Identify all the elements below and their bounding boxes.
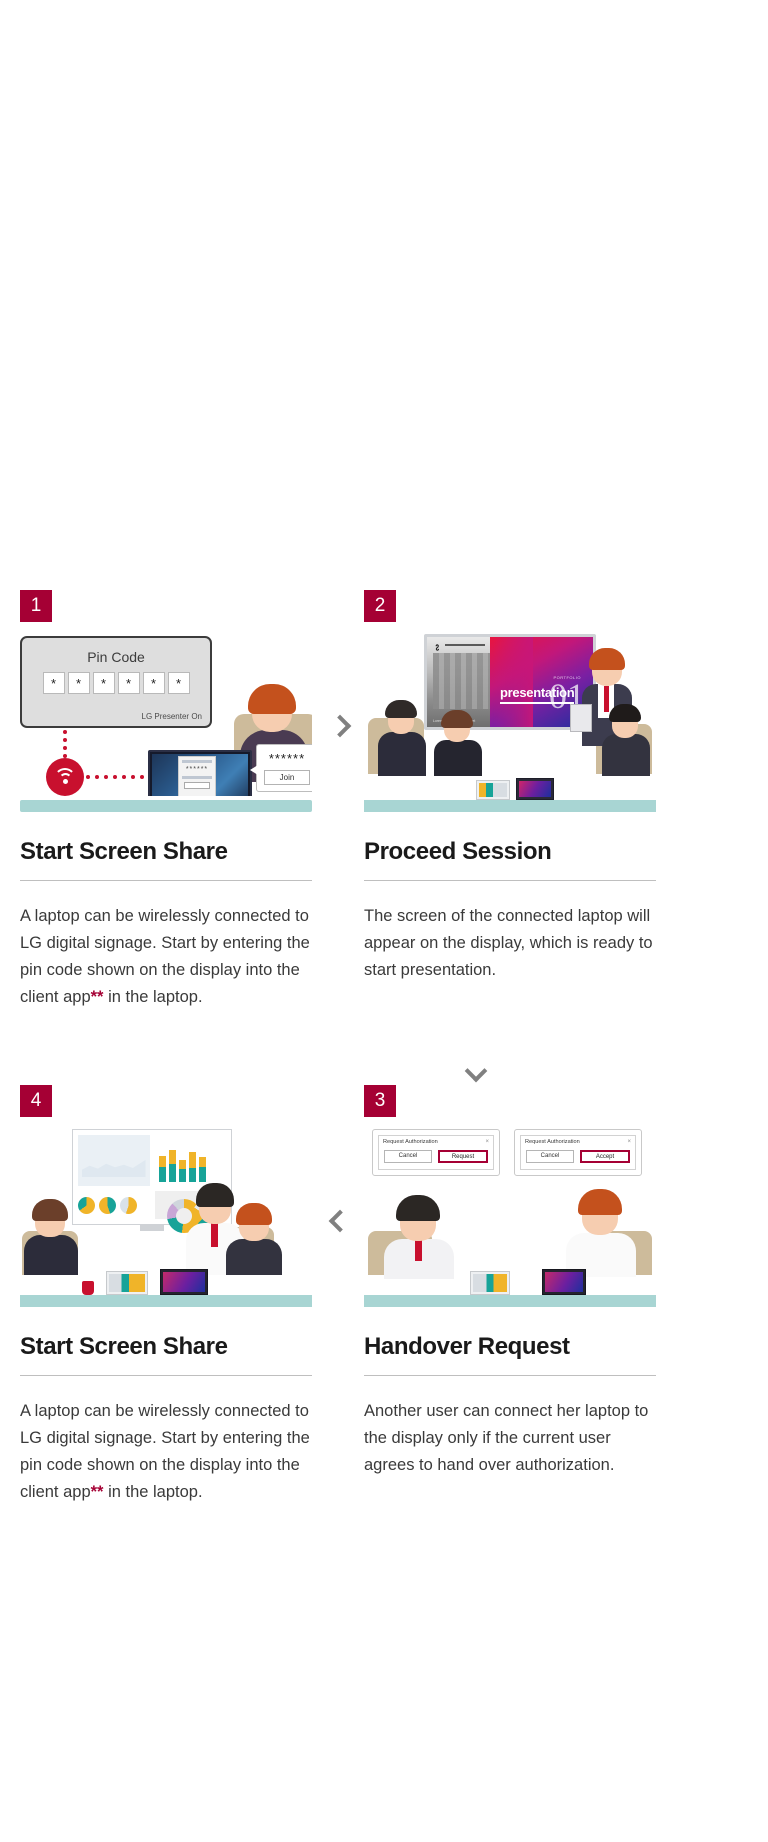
request-authorization-dialog-right[interactable]: Request Authorization × Cancel Accept [514, 1129, 642, 1176]
step-body-1: A laptop can be wirelessly connected to … [20, 903, 312, 1011]
dialog-titlebar: Request Authorization × [521, 1136, 635, 1147]
desk-front [20, 800, 312, 812]
step-card-1: 1 Pin Code * * * * * * LG Presenter On [20, 590, 344, 1011]
presenter-status-text: LG Presenter On [142, 712, 202, 721]
chevron-right-icon [332, 718, 348, 734]
pin-digit: * [43, 672, 65, 694]
body-text: The screen of the connected laptop will … [364, 907, 653, 979]
client-app-window: ****** [178, 756, 216, 800]
area-chart [78, 1135, 150, 1186]
request-authorization-dialog-left[interactable]: Request Authorization × Cancel Request [372, 1129, 500, 1176]
slide-gradient-blend [493, 637, 533, 727]
step-card-2: 2 ∾ PORTFOLIO presentation 01 Lorem [364, 590, 688, 1011]
step-body-3: Another user can connect her laptop to t… [364, 1398, 656, 1479]
attendee-middle [434, 712, 482, 776]
meeting-table [364, 1295, 656, 1307]
meeting-table [364, 800, 656, 812]
hero-blank-area [0, 0, 768, 590]
step-title-2: Proceed Session [364, 838, 688, 866]
footnote-marker: ** [91, 1483, 104, 1501]
pin-digit: * [118, 672, 140, 694]
current-user [566, 1189, 636, 1273]
laptop-right [160, 1269, 208, 1295]
callout-stars: ****** [257, 751, 312, 766]
pin-digit: * [93, 672, 115, 694]
step-title-4: Start Screen Share [20, 1333, 344, 1361]
dialog-title: Request Authorization [383, 1139, 438, 1145]
cancel-button[interactable]: Cancel [384, 1150, 432, 1163]
attendee-right [226, 1203, 282, 1275]
pin-digit: * [168, 672, 190, 694]
feature-page: 1 Pin Code * * * * * * LG Presenter On [0, 0, 768, 1842]
slide-logo-icon: ∾ [431, 644, 442, 652]
laptop-right [516, 778, 554, 800]
coffee-cup [82, 1281, 94, 1295]
dialog-title: Request Authorization [525, 1139, 580, 1145]
title-rule [20, 880, 312, 881]
laptop-right [542, 1269, 586, 1295]
signage-pin-screen: Pin Code * * * * * * LG Presenter On [20, 636, 212, 728]
connection-dots-vertical [63, 730, 67, 756]
illustration-proceed-session: ∾ PORTFOLIO presentation 01 Lorem ipsum … [364, 632, 656, 812]
body-text-tail: in the laptop. [103, 988, 202, 1006]
illustration-start-screen-share: Pin Code * * * * * * LG Presenter On [20, 632, 312, 812]
meeting-table [20, 1295, 312, 1307]
attendee-left [24, 1199, 78, 1275]
step-badge-2: 2 [364, 590, 396, 622]
attendee-left [376, 700, 428, 776]
title-rule [20, 1375, 312, 1376]
pin-code-boxes: * * * * * * [22, 672, 210, 694]
donut-chart-row [78, 1191, 150, 1219]
footnote-marker: ** [91, 988, 104, 1006]
chevron-left-icon [332, 1213, 348, 1229]
wifi-icon [46, 758, 84, 796]
step-card-3: 3 Request Authorization × Cancel [364, 1085, 688, 1506]
chevron-down-icon [468, 1063, 484, 1079]
bar-chart [155, 1135, 227, 1186]
laptop-left [476, 780, 510, 800]
illustration-dashboard-share [20, 1127, 312, 1307]
close-icon[interactable]: × [485, 1139, 489, 1145]
step-title-1: Start Screen Share [20, 838, 344, 866]
title-rule [364, 1375, 656, 1376]
step-badge-3: 3 [364, 1085, 396, 1117]
pin-entry-callout: ****** Join [256, 744, 312, 792]
body-text: Another user can connect her laptop to t… [364, 1402, 648, 1474]
body-text-tail: in the laptop. [103, 1483, 202, 1501]
request-button[interactable]: Request [438, 1150, 488, 1163]
step-badge-1: 1 [20, 590, 52, 622]
display-stand [140, 1225, 164, 1231]
step-body-2: The screen of the connected laptop will … [364, 903, 656, 984]
laptop-left [470, 1271, 510, 1295]
step-row-top: 1 Pin Code * * * * * * LG Presenter On [20, 590, 748, 1011]
illustration-handover-request: Request Authorization × Cancel Request [364, 1127, 656, 1307]
step-card-4: 4 [20, 1085, 344, 1506]
attendee-right [600, 704, 652, 776]
cancel-button[interactable]: Cancel [526, 1150, 574, 1163]
laptop-left [106, 1271, 148, 1295]
pin-code-label: Pin Code [22, 649, 210, 665]
close-icon[interactable]: × [627, 1139, 631, 1145]
step-badge-4: 4 [20, 1085, 52, 1117]
steps-grid: 1 Pin Code * * * * * * LG Presenter On [0, 590, 768, 1506]
pin-digit: * [68, 672, 90, 694]
step-row-bottom: 4 [20, 1085, 748, 1506]
dialog-row: Request Authorization × Cancel Request [372, 1129, 642, 1176]
slide-logo-text [445, 644, 485, 646]
requesting-user [384, 1195, 454, 1273]
title-rule [364, 880, 656, 881]
step-body-4: A laptop can be wirelessly connected to … [20, 1398, 312, 1506]
accept-button[interactable]: Accept [580, 1150, 630, 1163]
pin-digit: * [143, 672, 165, 694]
dialog-titlebar: Request Authorization × [379, 1136, 493, 1147]
step-title-3: Handover Request [364, 1333, 688, 1361]
join-button[interactable]: Join [264, 770, 310, 785]
